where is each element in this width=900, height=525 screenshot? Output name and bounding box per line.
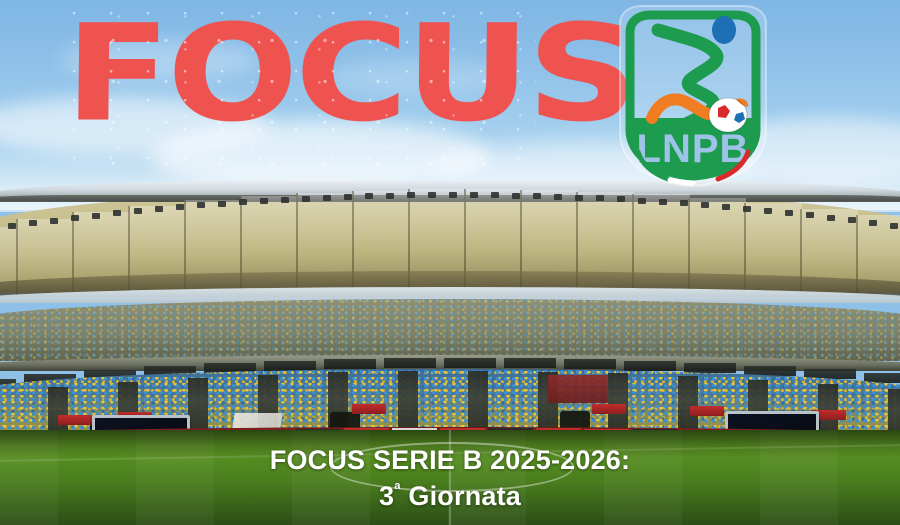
roof-light-fixture: [680, 200, 688, 206]
stadium-structure: [0, 175, 900, 440]
lnpb-wordmark: LNPB: [637, 127, 750, 171]
caption-block: FOCUS SERIE B 2025-2026: 3ª Giornata: [0, 444, 900, 513]
caption-line-1: FOCUS SERIE B 2025-2026:: [0, 444, 900, 477]
roof-light-fixture: [890, 223, 898, 229]
roof-light-fixture: [365, 193, 373, 199]
roof-light-fixture: [764, 208, 772, 214]
roof-light-fixture: [659, 199, 667, 205]
roof-light-fixture: [134, 208, 142, 214]
executive-box: [444, 358, 496, 368]
executive-box: [684, 363, 736, 373]
roof-light-fixture: [71, 215, 79, 221]
roof-light-fixture: [533, 193, 541, 199]
roof-light-fixture: [701, 202, 709, 208]
focus-wordmark: FOCUS: [65, 8, 636, 140]
stand-banner: [592, 404, 626, 414]
roof-light-fixture: [239, 199, 247, 205]
roof-light-fixture: [512, 193, 520, 199]
roof-light-fixture: [302, 196, 310, 202]
roof-light-fixture: [29, 220, 37, 226]
roof-light-fixture: [218, 201, 226, 207]
lnpb-logo: LNPB: [612, 2, 774, 190]
matchday-number: 3: [379, 481, 394, 511]
caption-line-2: 3ª Giornata: [0, 480, 900, 513]
roof-hung-banner: [548, 375, 608, 403]
blue-head-dot-icon: [712, 16, 736, 44]
roof-light-fixture: [92, 213, 100, 219]
roof-light-fixture: [407, 192, 415, 198]
roof-light-fixture: [449, 192, 457, 198]
roof-light-fixture: [428, 192, 436, 198]
roof-light-fixture: [554, 194, 562, 200]
roof-light-fixture: [323, 195, 331, 201]
executive-box: [504, 358, 556, 368]
upper-tier-seating: [0, 299, 900, 361]
roof-light-fixture: [596, 195, 604, 201]
roof-light-fixture: [491, 192, 499, 198]
roof-light-fixture: [386, 193, 394, 199]
matchday-word: Giornata: [401, 481, 521, 511]
roof-light-fixture: [8, 223, 16, 229]
roof-light-fixture: [470, 192, 478, 198]
tricolor-white-icon: [670, 180, 693, 183]
stand-banner: [690, 406, 724, 416]
roof-light-fixture: [155, 206, 163, 212]
roof-light-fixture: [785, 210, 793, 216]
roof-light-fixture: [806, 212, 814, 218]
roof-light-fixture: [344, 194, 352, 200]
roof-light-fixture: [617, 196, 625, 202]
roof-light-fixture: [113, 210, 121, 216]
executive-box: [624, 361, 676, 371]
stand-banner: [58, 415, 92, 425]
roof-light-fixture: [281, 197, 289, 203]
roof-light-fixture: [869, 220, 877, 226]
roof-light-fixture: [260, 198, 268, 204]
roof-light-fixture: [176, 204, 184, 210]
roof-light-fixture: [638, 198, 646, 204]
roof-light-fixture: [50, 218, 58, 224]
stand-banner: [352, 404, 386, 414]
roof-light-fixture: [197, 202, 205, 208]
roof-light-fixture: [848, 217, 856, 223]
roof-light-fixture: [722, 204, 730, 210]
roof-light-fixture: [575, 195, 583, 201]
roof-light-fixture: [743, 206, 751, 212]
executive-box: [324, 359, 376, 369]
focus-serie-b-banner: FOCUS LNPB: [0, 0, 900, 525]
executive-box: [384, 358, 436, 368]
executive-box: [564, 359, 616, 369]
roof-light-fixture: [827, 215, 835, 221]
